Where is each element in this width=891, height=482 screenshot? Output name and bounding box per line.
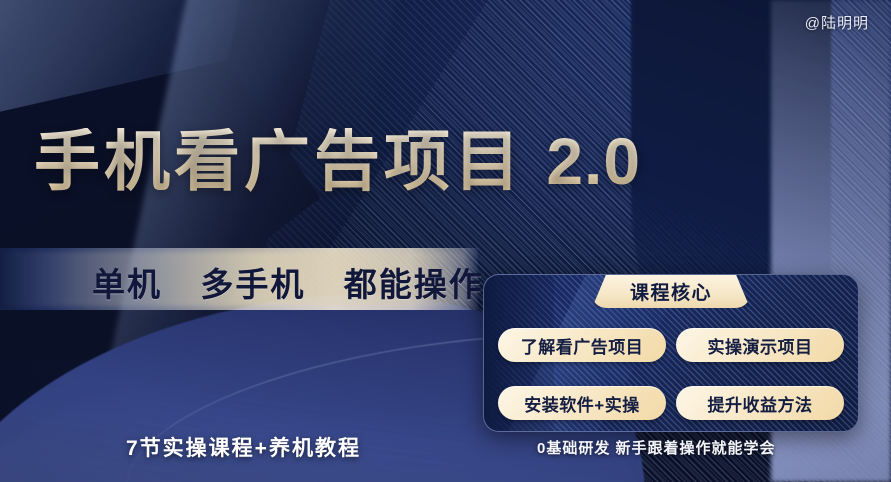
- subtitle: 单机 多手机 都能操作: [92, 258, 484, 306]
- course-core-item-4[interactable]: 提升收益方法: [676, 386, 844, 420]
- course-core-item-3-label: 安装软件+实操: [524, 391, 639, 416]
- title-version-text: 2.0: [546, 124, 641, 198]
- course-core-tab-label: 课程核心: [630, 278, 712, 305]
- course-core-item-4-label: 提升收益方法: [708, 391, 813, 416]
- course-core-item-2-label: 实操演示项目: [708, 333, 813, 358]
- page-title: 手机看广告项目 2.0: [34, 128, 641, 194]
- promo-poster: @陆明明 手机看广告项目 2.0 单机 多手机 都能操作 课程核心 了解看广告项…: [0, 0, 891, 482]
- course-core-item-grid: 了解看广告项目 实操演示项目 安装软件+实操 提升收益方法: [484, 317, 858, 431]
- course-core-item-3[interactable]: 安装软件+实操: [498, 386, 666, 420]
- author-watermark: @陆明明: [805, 12, 869, 33]
- course-core-item-1[interactable]: 了解看广告项目: [498, 328, 666, 362]
- subtitle-part-2: 多手机: [200, 266, 305, 303]
- course-core-item-1-label: 了解看广告项目: [521, 333, 644, 358]
- subtitle-part-3: 都能操作: [344, 266, 484, 303]
- course-core-panel: 课程核心 了解看广告项目 实操演示项目 安装软件+实操 提升收益方法: [483, 274, 859, 432]
- subtitle-part-1: 单机: [92, 266, 162, 303]
- course-core-tab: 课程核心: [592, 274, 750, 308]
- bottom-left-note: 7节实操课程+养机教程: [126, 432, 361, 462]
- title-main-text: 手机看广告项目: [34, 124, 524, 198]
- course-core-item-2[interactable]: 实操演示项目: [676, 328, 844, 362]
- bottom-right-note: 0基础研发 新手跟着操作就能学会: [537, 437, 776, 458]
